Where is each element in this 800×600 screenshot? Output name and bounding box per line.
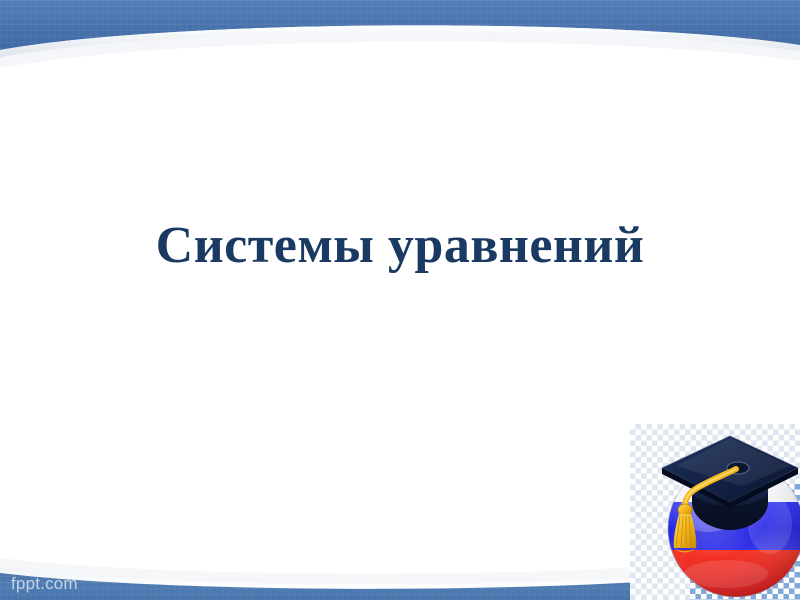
slide-title-container: Системы уравнений	[0, 216, 800, 276]
graduation-cap-sphere-illustration	[630, 424, 800, 600]
top-band-fill	[0, 0, 800, 50]
top-band-texture	[0, 0, 800, 50]
fppt-watermark: fppt.com	[11, 574, 78, 594]
page-title: Системы уравнений	[156, 216, 645, 276]
presentation-slide: Системы уравнений	[0, 0, 800, 600]
top-band-group	[0, 0, 800, 68]
top-band-soft-shadow	[0, 31, 800, 68]
artwork-graduation-cap-russian-sphere	[630, 424, 800, 600]
top-band-highlight	[0, 25, 800, 58]
